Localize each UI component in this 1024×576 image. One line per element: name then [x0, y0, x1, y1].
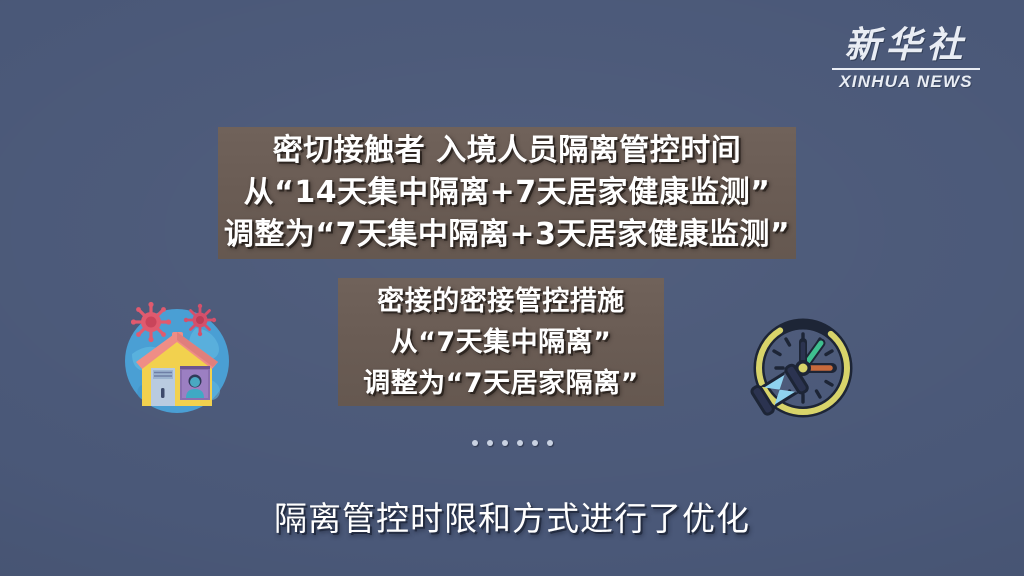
- primary-caption-line-2: 从“14天集中隔离+7天居家健康监测”: [244, 172, 771, 214]
- primary-caption-panel: 密切接触者 入境人员隔离管控时间 从“14天集中隔离+7天居家健康监测” 调整为…: [218, 127, 796, 259]
- home-quarantine-icon: [118, 302, 236, 420]
- logo-underline: [832, 68, 980, 70]
- virus-particle-left: [131, 302, 171, 342]
- ellipsis-dot: [472, 440, 478, 446]
- ellipsis-dot: [532, 440, 538, 446]
- ellipsis-dot: [487, 440, 493, 446]
- video-subtitle: 隔离管控时限和方式进行了优化: [0, 492, 1024, 540]
- ellipsis-dot: [517, 440, 523, 446]
- ellipsis-dot: [502, 440, 508, 446]
- secondary-caption-line-3: 调整为“7天居家隔离”: [363, 363, 639, 404]
- video-frame: 新华社 XINHUA NEWS 密切接触者 入境人员隔离管控时间 从“14天集中…: [0, 0, 1024, 576]
- logo-english-text: XINHUA NEWS: [830, 73, 982, 90]
- secondary-caption-line-2: 从“7天集中隔离”: [391, 322, 612, 363]
- secondary-caption-line-1: 密接的密接管控措施: [377, 281, 625, 322]
- secondary-caption-panel: 密接的密接管控措施 从“7天集中隔离” 调整为“7天居家隔离”: [338, 278, 664, 406]
- primary-caption-line-1: 密切接触者 入境人员隔离管控时间: [273, 130, 741, 172]
- ellipsis-dot: [547, 440, 553, 446]
- xinhua-news-logo: 新华社 XINHUA NEWS: [830, 28, 982, 90]
- ellipsis-dots: [0, 440, 1024, 446]
- logo-chinese-text: 新华社: [830, 28, 982, 67]
- clock-face: [759, 324, 847, 412]
- primary-caption-line-3: 调整为“7天集中隔离+3天居家健康监测”: [224, 214, 790, 256]
- quarantine-duration-icon: [735, 318, 853, 422]
